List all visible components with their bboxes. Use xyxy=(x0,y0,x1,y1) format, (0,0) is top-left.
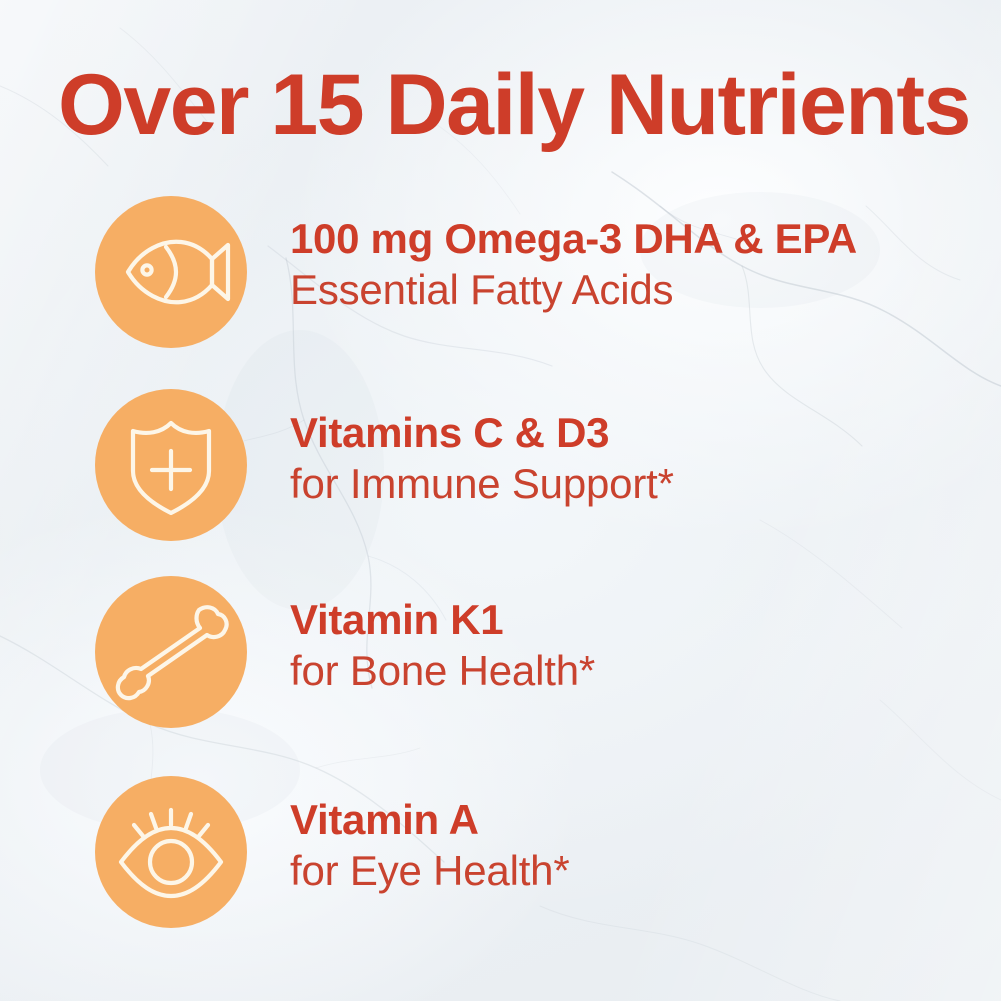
nutrient-copy: 100 mg Omega-3 DHA & EPA Essential Fatty… xyxy=(290,214,950,315)
list-item: Vitamins C & D3 for Immune Support* xyxy=(0,378,1001,568)
nutrient-secondary-text: Essential Fatty Acids xyxy=(290,264,950,315)
nutrient-primary-text: Vitamin K1 xyxy=(290,595,950,645)
nutrient-primary-text: Vitamin A xyxy=(290,795,950,845)
bone-icon xyxy=(111,592,231,712)
eye-icon-badge xyxy=(95,776,247,928)
nutrient-secondary-text: for Immune Support* xyxy=(290,458,950,509)
list-item: Vitamin K1 for Bone Health* xyxy=(0,568,1001,758)
nutrient-list: 100 mg Omega-3 DHA & EPA Essential Fatty… xyxy=(0,188,1001,948)
nutrient-copy: Vitamin A for Eye Health* xyxy=(290,795,950,896)
nutrient-secondary-text: for Bone Health* xyxy=(290,645,950,696)
nutrient-primary-text: 100 mg Omega-3 DHA & EPA xyxy=(290,214,950,264)
nutrient-copy: Vitamin K1 for Bone Health* xyxy=(290,595,950,696)
bone-icon-badge xyxy=(95,576,247,728)
nutrient-info-poster: Over 15 Daily Nutrients 100 mg Omega-3 D… xyxy=(0,0,1001,1001)
nutrient-primary-text: Vitamins C & D3 xyxy=(290,408,950,458)
list-item: Vitamin A for Eye Health* xyxy=(0,758,1001,948)
page-title: Over 15 Daily Nutrients xyxy=(58,62,958,148)
nutrient-secondary-text: for Eye Health* xyxy=(290,845,950,896)
fish-icon xyxy=(111,212,231,332)
shield-plus-icon xyxy=(111,405,231,525)
eye-icon xyxy=(111,792,231,912)
list-item: 100 mg Omega-3 DHA & EPA Essential Fatty… xyxy=(0,188,1001,378)
shield-plus-icon-badge xyxy=(95,389,247,541)
nutrient-copy: Vitamins C & D3 for Immune Support* xyxy=(290,408,950,509)
fish-icon-badge xyxy=(95,196,247,348)
